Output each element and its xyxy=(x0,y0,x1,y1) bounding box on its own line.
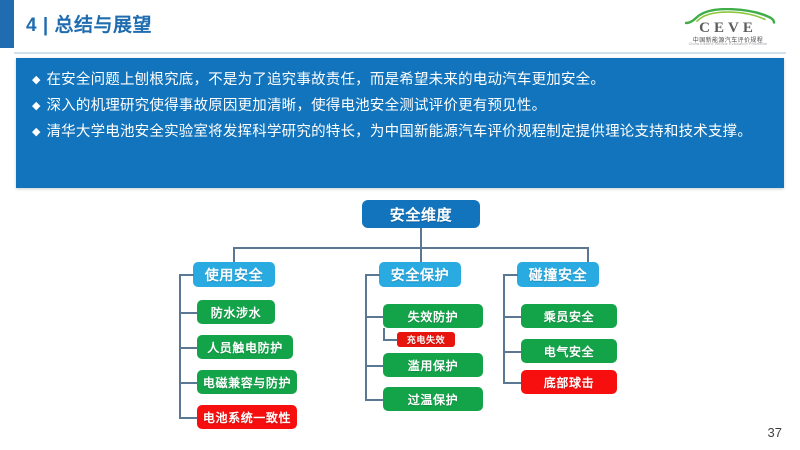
connector-branch-1-rail xyxy=(179,274,181,417)
diagram-node-root: 安全维度 xyxy=(362,200,480,228)
connector-branch-1-child-4 xyxy=(179,417,198,419)
ceve-logo: CEVE 中国新能源汽车评价规程 China Electric Vehicle … xyxy=(670,8,786,48)
connector-branch-3-child-3 xyxy=(503,382,522,384)
diagram-leaf-lanyong-baohu: 滥用保护 xyxy=(383,353,483,377)
diagram-leaf-chengyuan-anquan: 乘员安全 xyxy=(521,304,617,328)
diagram-node-branch-3: 碰撞安全 xyxy=(517,262,599,287)
diagram-leaf-chongdian-shixiao: 充电失效 xyxy=(397,332,455,347)
connector-sub-charge-failure xyxy=(383,339,398,341)
connector-branch-1-child-1 xyxy=(179,312,198,314)
connector-branch-3-rail xyxy=(503,274,505,382)
logo-english-name: China Electric Vehicle Evaluation Proced… xyxy=(670,42,786,46)
connector-branch-1-to-node xyxy=(179,274,194,276)
diamond-bullet-icon: ◆ xyxy=(32,121,40,144)
safety-dimension-diagram: 安全维度 使用安全 防水涉水 人员触电防护 电磁兼容与防护 电池系统一致性 安全… xyxy=(0,192,800,432)
bullet-text: 清华大学电池安全实验室将发挥科学研究的特长，为中国新能源汽车评价规程制定提供理论… xyxy=(46,121,772,144)
diagram-leaf-dianchi-xitong-yizhixing: 电池系统一致性 xyxy=(197,405,297,429)
slide-canvas: 4 | 总结与展望 CEVE 中国新能源汽车评价规程 China Electri… xyxy=(0,0,800,450)
connector-branch-3-child-2 xyxy=(503,351,522,353)
bullet-item: ◆ 清华大学电池安全实验室将发挥科学研究的特长，为中国新能源汽车评价规程制定提供… xyxy=(16,121,784,144)
diagram-leaf-guowen-baohu: 过温保护 xyxy=(383,387,483,411)
diagram-node-branch-1: 使用安全 xyxy=(193,262,275,287)
bullet-item: ◆ 深入的机理研究使得事故原因更加清晰，使得电池安全测试评价更有预见性。 xyxy=(16,95,784,118)
diagram-leaf-dianqi-anquan: 电气安全 xyxy=(521,339,617,363)
connector-branch-1-child-2 xyxy=(179,347,198,349)
connector-branch-2-child-2 xyxy=(365,365,384,367)
connector-drop-branch-1 xyxy=(233,247,235,262)
bullet-text: 在安全问题上刨根究底，不是为了追究事故责任，而是希望未来的电动汽车更加安全。 xyxy=(46,69,772,92)
connector-branch-3-to-node xyxy=(503,274,518,276)
diamond-bullet-icon: ◆ xyxy=(32,69,40,92)
diagram-leaf-renyuan-chudian-fanghu: 人员触电防护 xyxy=(197,335,293,359)
connector-branch-2-to-node xyxy=(365,274,380,276)
page-number: 37 xyxy=(768,425,782,440)
diagram-leaf-dibu-qiuji: 底部球击 xyxy=(521,370,617,394)
connector-spine xyxy=(233,247,587,249)
page-title: 4 | 总结与展望 xyxy=(26,10,152,37)
diagram-node-branch-2: 安全保护 xyxy=(379,262,461,287)
connector-drop-branch-3 xyxy=(587,247,589,262)
connector-branch-2-child-3 xyxy=(365,399,384,401)
bullet-text: 深入的机理研究使得事故原因更加清晰，使得电池安全测试评价更有预见性。 xyxy=(46,95,772,118)
bullet-item: ◆ 在安全问题上刨根究底，不是为了追究事故责任，而是希望未来的电动汽车更加安全。 xyxy=(16,69,784,92)
connector-root-stem xyxy=(420,228,422,248)
connector-branch-1-child-3 xyxy=(179,382,198,384)
diagram-leaf-shixiao-fanghu: 失效防护 xyxy=(383,304,483,328)
diagram-leaf-dianci-jianrong: 电磁兼容与防护 xyxy=(197,370,297,394)
diamond-bullet-icon: ◆ xyxy=(32,95,40,118)
diagram-leaf-fangshui-shepshui: 防水涉水 xyxy=(197,300,275,324)
summary-bullet-panel: ◆ 在安全问题上刨根究底，不是为了追究事故责任，而是希望未来的电动汽车更加安全。… xyxy=(16,58,784,188)
header-divider xyxy=(14,52,786,54)
header-accent-bar xyxy=(0,0,14,48)
connector-drop-branch-2 xyxy=(420,247,422,262)
connector-branch-2-child-1 xyxy=(365,316,384,318)
connector-branch-3-child-1 xyxy=(503,316,522,318)
connector-branch-2-rail xyxy=(365,274,367,399)
